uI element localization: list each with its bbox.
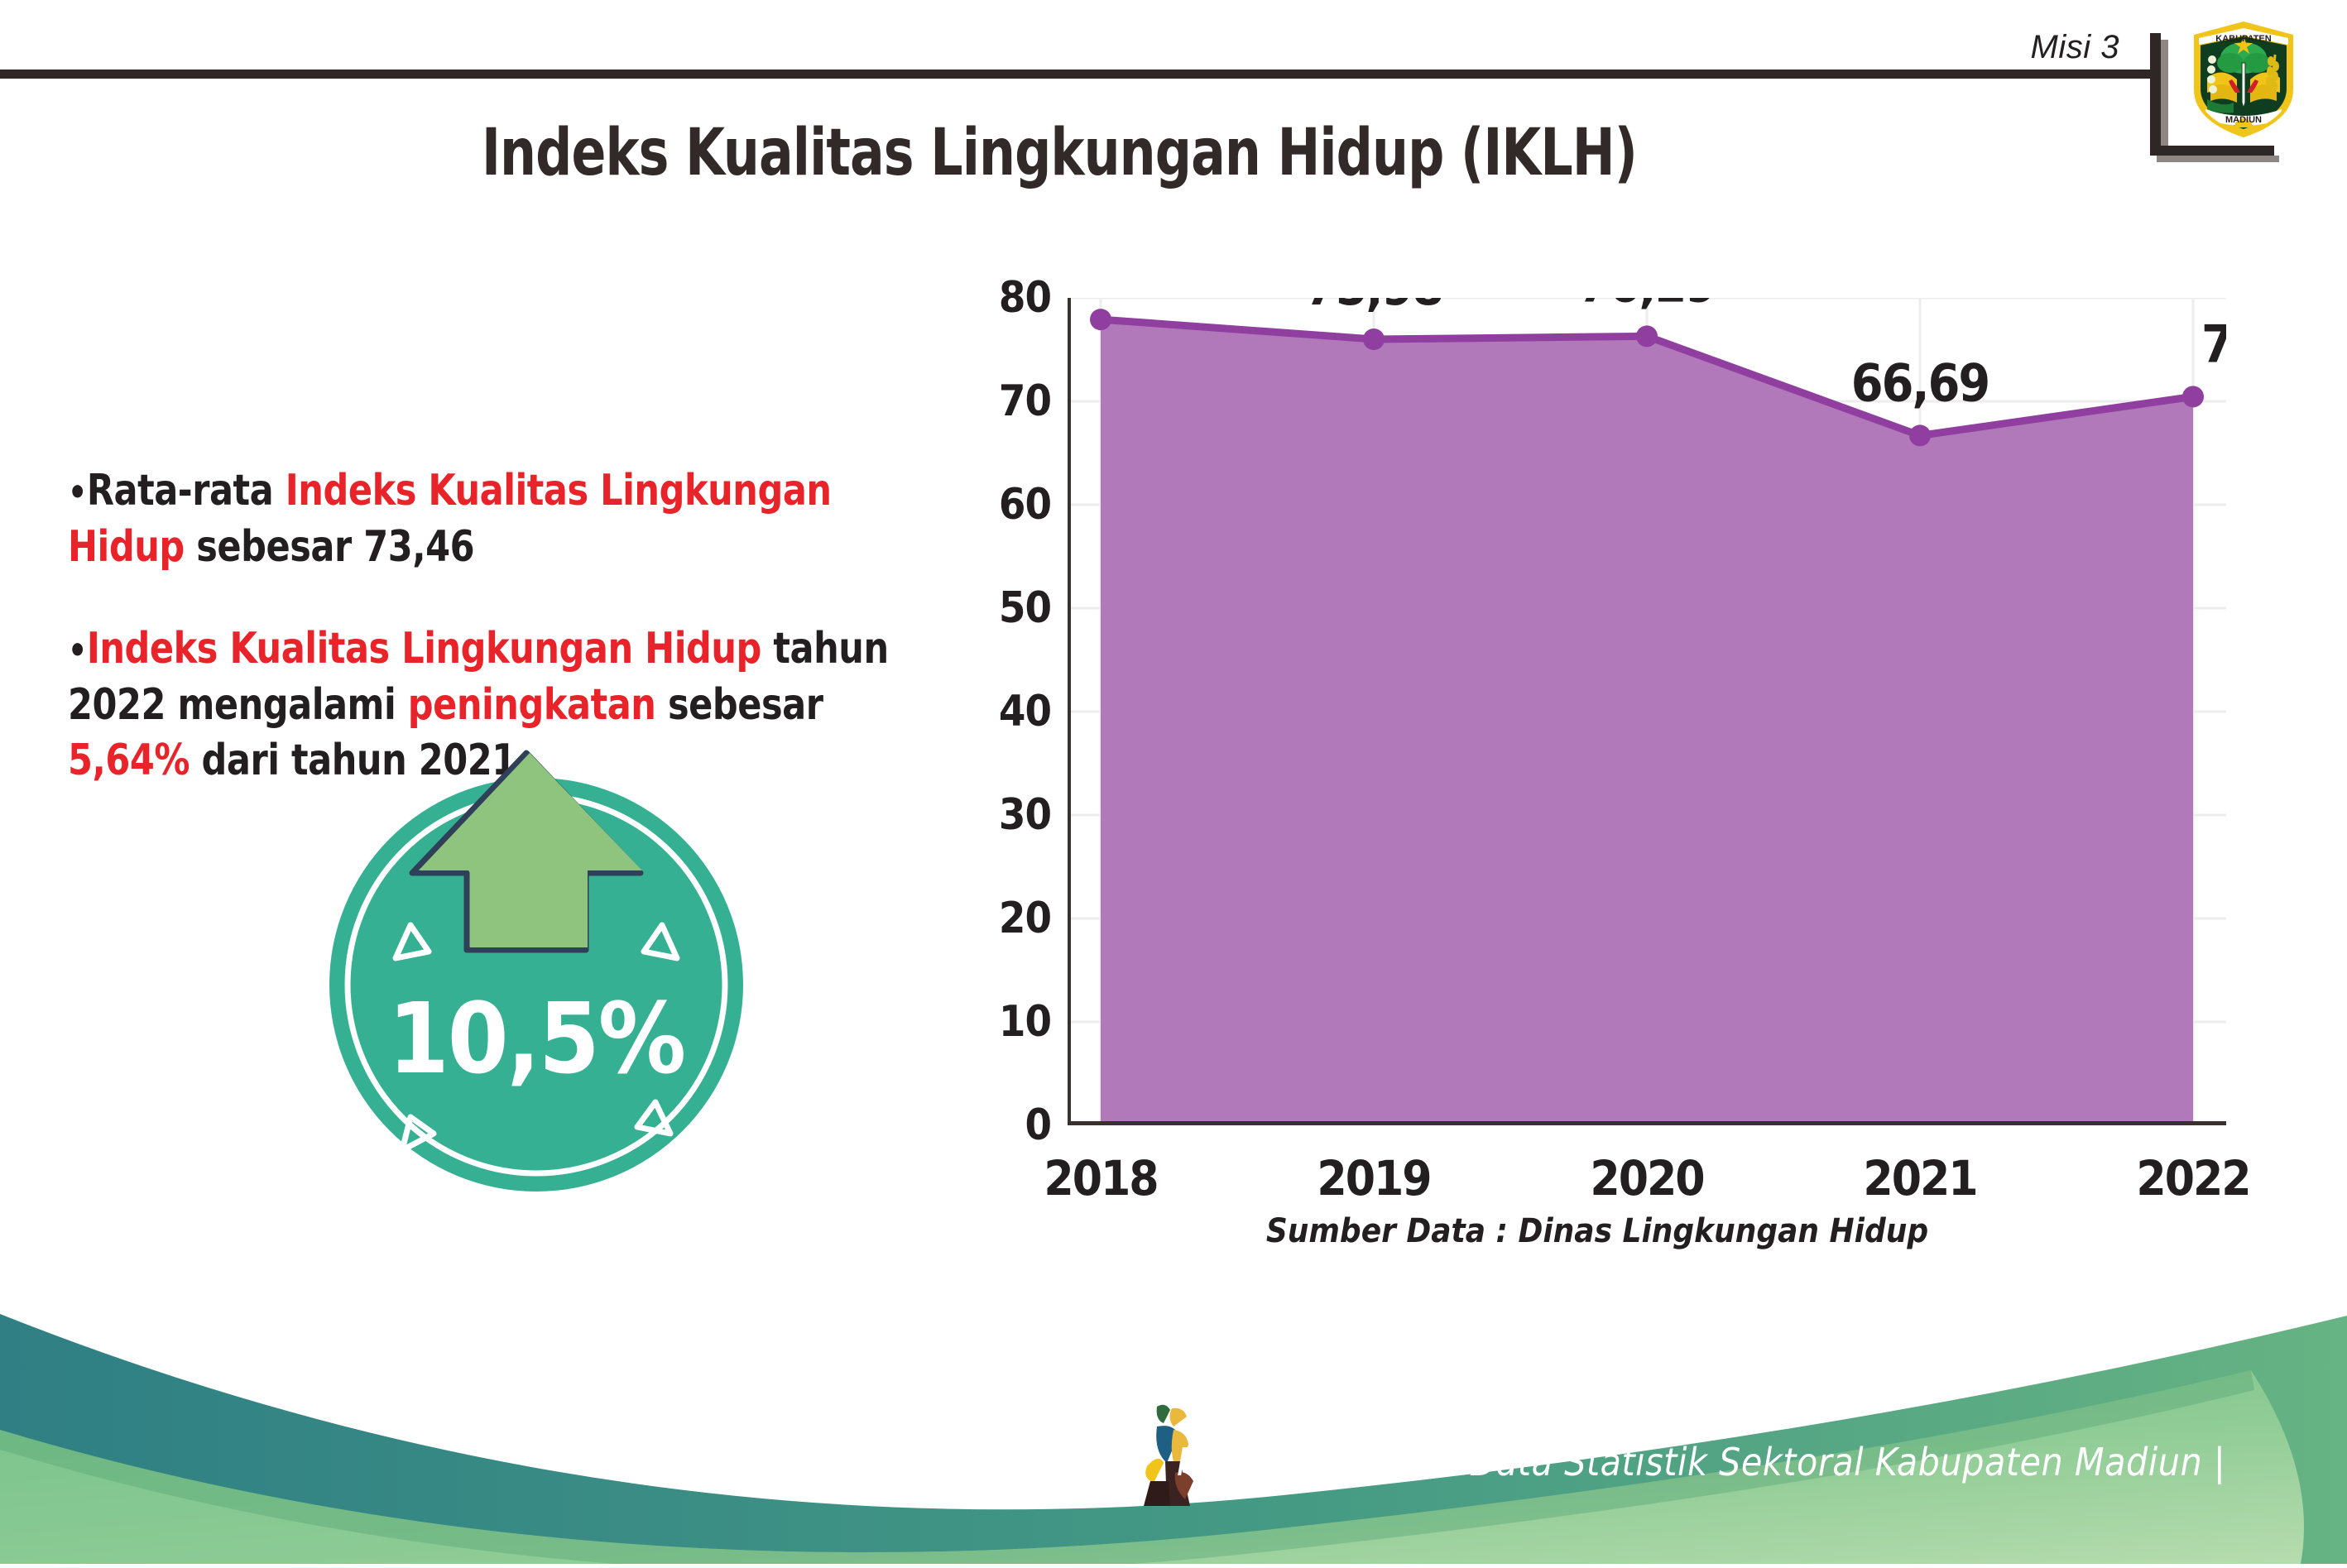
page-title: Indeks Kualitas Lingkungan Hidup (IKLH) [127,116,1992,190]
data-point-label: 70,45 [2201,314,2226,374]
x-tick-label: 2021 [1863,1150,1976,1206]
crest-top-text: KABUPATEN [2215,34,2271,44]
y-axis-labels: 01020304050607080 [952,298,1051,1125]
y-tick-label: 50 [999,583,1051,633]
bullet-1-text-2: sebesar 73,46 [185,522,474,572]
bullet-marker: • [68,472,87,514]
y-tick-label: 80 [999,273,1051,323]
bullet-2-text-2: sebesar [655,680,823,730]
data-point-marker [1363,328,1385,350]
data-point-marker [1636,325,1658,347]
x-tick-label: 2022 [2136,1150,2249,1206]
bullet-2-highlight-2: peningkatan [408,680,656,730]
badge-value: 10,5% [313,981,760,1096]
summary-bullets: •Rata-rata Indeks Kualitas Lingkungan Hi… [68,463,986,789]
x-tick-label: 2018 [1044,1150,1157,1206]
y-tick-label: 0 [1025,1100,1051,1150]
data-point-marker [1090,309,1111,330]
y-tick-label: 70 [999,376,1051,426]
data-point-label: 75,98 [1305,298,1442,317]
y-tick-label: 30 [999,790,1051,840]
x-axis-labels: 20182019202020212022 [1068,1142,2226,1216]
bullet-1-text-1: Rata-rata [87,466,286,515]
bullet-marker: • [68,630,87,672]
increase-badge: 10,5% [313,745,760,1196]
iklh-area-chart: 01020304050607080 77,9175,9876,2966,6970… [952,298,2292,1175]
bullet-2-highlight-3: 5,64% [68,736,190,785]
x-tick-label: 2020 [1590,1150,1703,1206]
y-tick-label: 20 [999,894,1051,943]
chart-source-note: Sumber Data : Dinas Lingkungan Hidup [952,1212,2243,1250]
crest-bottom-text: MADIUN [2225,115,2262,125]
x-tick-label: 2019 [1317,1150,1430,1206]
misi-label: Misi 3 [2031,29,2119,66]
y-tick-label: 40 [999,687,1051,736]
kabupaten-madiun-crest-icon: KABUPATEN MADIUN [2189,17,2298,139]
y-tick-label: 60 [999,480,1051,530]
bullet-item-1: •Rata-rata Indeks Kualitas Lingkungan Hi… [68,463,913,575]
data-point-marker [1909,424,1931,446]
y-tick-label: 10 [999,997,1051,1047]
data-point-marker [2182,386,2204,407]
bullet-2-highlight-1: Indeks Kualitas Lingkungan Hidup [87,624,761,674]
footer-caption: Media Infografis Data Statistik Sektoral… [1177,1440,2225,1484]
footer: Media Infografis Data Statistik Sektoral… [0,1291,2347,1564]
plot-area: 77,9175,9876,2966,6970,45 [1068,298,2226,1125]
header-rule [0,70,2158,79]
data-point-label: 66,69 [1851,352,1989,413]
data-point-label: 76,29 [1578,298,1716,314]
